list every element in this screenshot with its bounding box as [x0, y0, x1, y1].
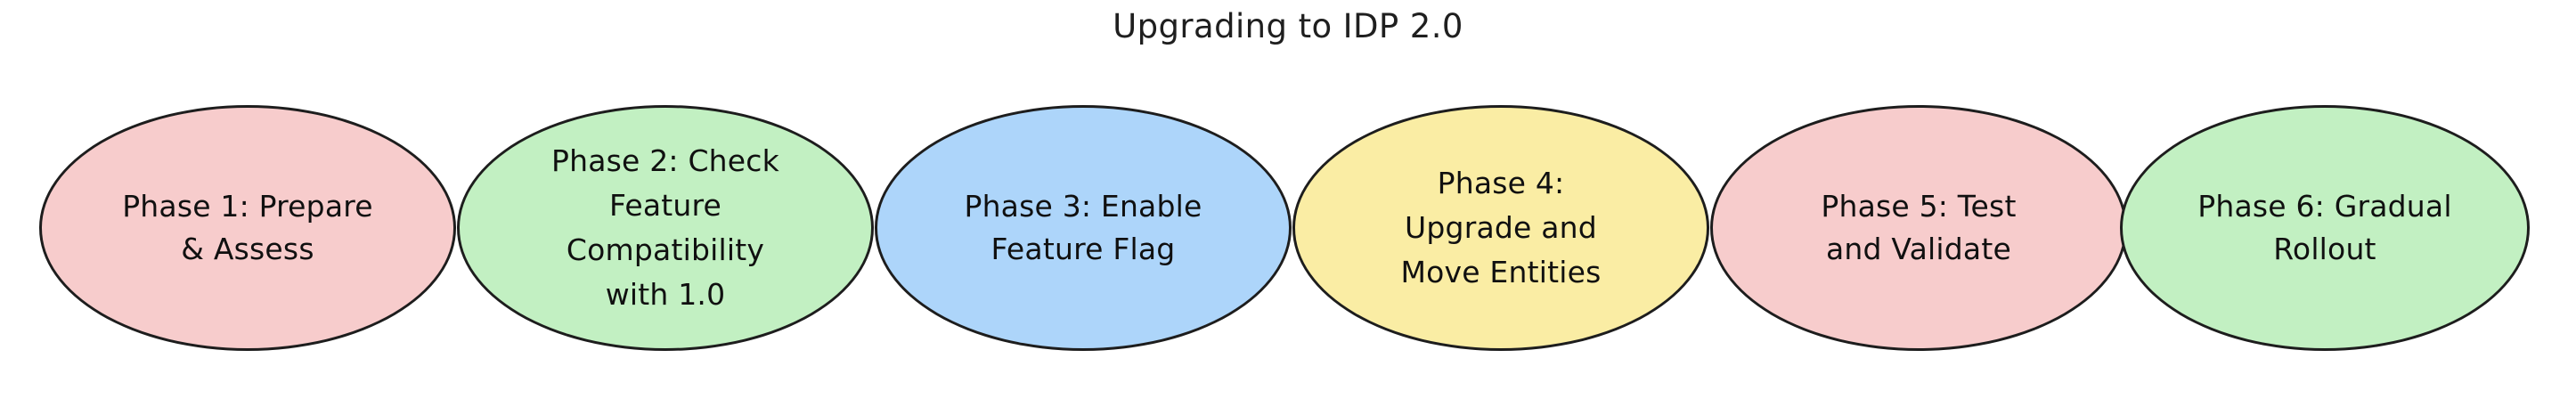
phase-node-6[interactable]: Phase 6: Gradual Rollout [2120, 105, 2530, 351]
phase-node-3-label: Phase 3: Enable Feature Flag [910, 185, 1256, 271]
phase-node-5[interactable]: Phase 5: Test and Validate [1710, 105, 2127, 351]
phase-node-2-label: Phase 2: Check Feature Compatibility wit… [493, 139, 838, 318]
phase-node-6-label: Phase 6: Gradual Rollout [2155, 185, 2494, 271]
phase-node-3[interactable]: Phase 3: Enable Feature Flag [875, 105, 1292, 351]
phase-node-row: Phase 1: Prepare & Assess Phase 2: Check… [0, 0, 2576, 399]
phase-node-4-label: Phase 4: Upgrade and Move Entities [1328, 161, 1674, 295]
phase-node-4[interactable]: Phase 4: Upgrade and Move Entities [1292, 105, 1709, 351]
phase-node-2[interactable]: Phase 2: Check Feature Compatibility wit… [457, 105, 874, 351]
diagram-canvas: Upgrading to IDP 2.0 Phase 1: Prepare & … [0, 0, 2576, 399]
phase-node-5-label: Phase 5: Test and Validate [1746, 185, 2091, 271]
phase-node-1[interactable]: Phase 1: Prepare & Assess [39, 105, 456, 351]
phase-node-1-label: Phase 1: Prepare & Assess [75, 185, 420, 271]
